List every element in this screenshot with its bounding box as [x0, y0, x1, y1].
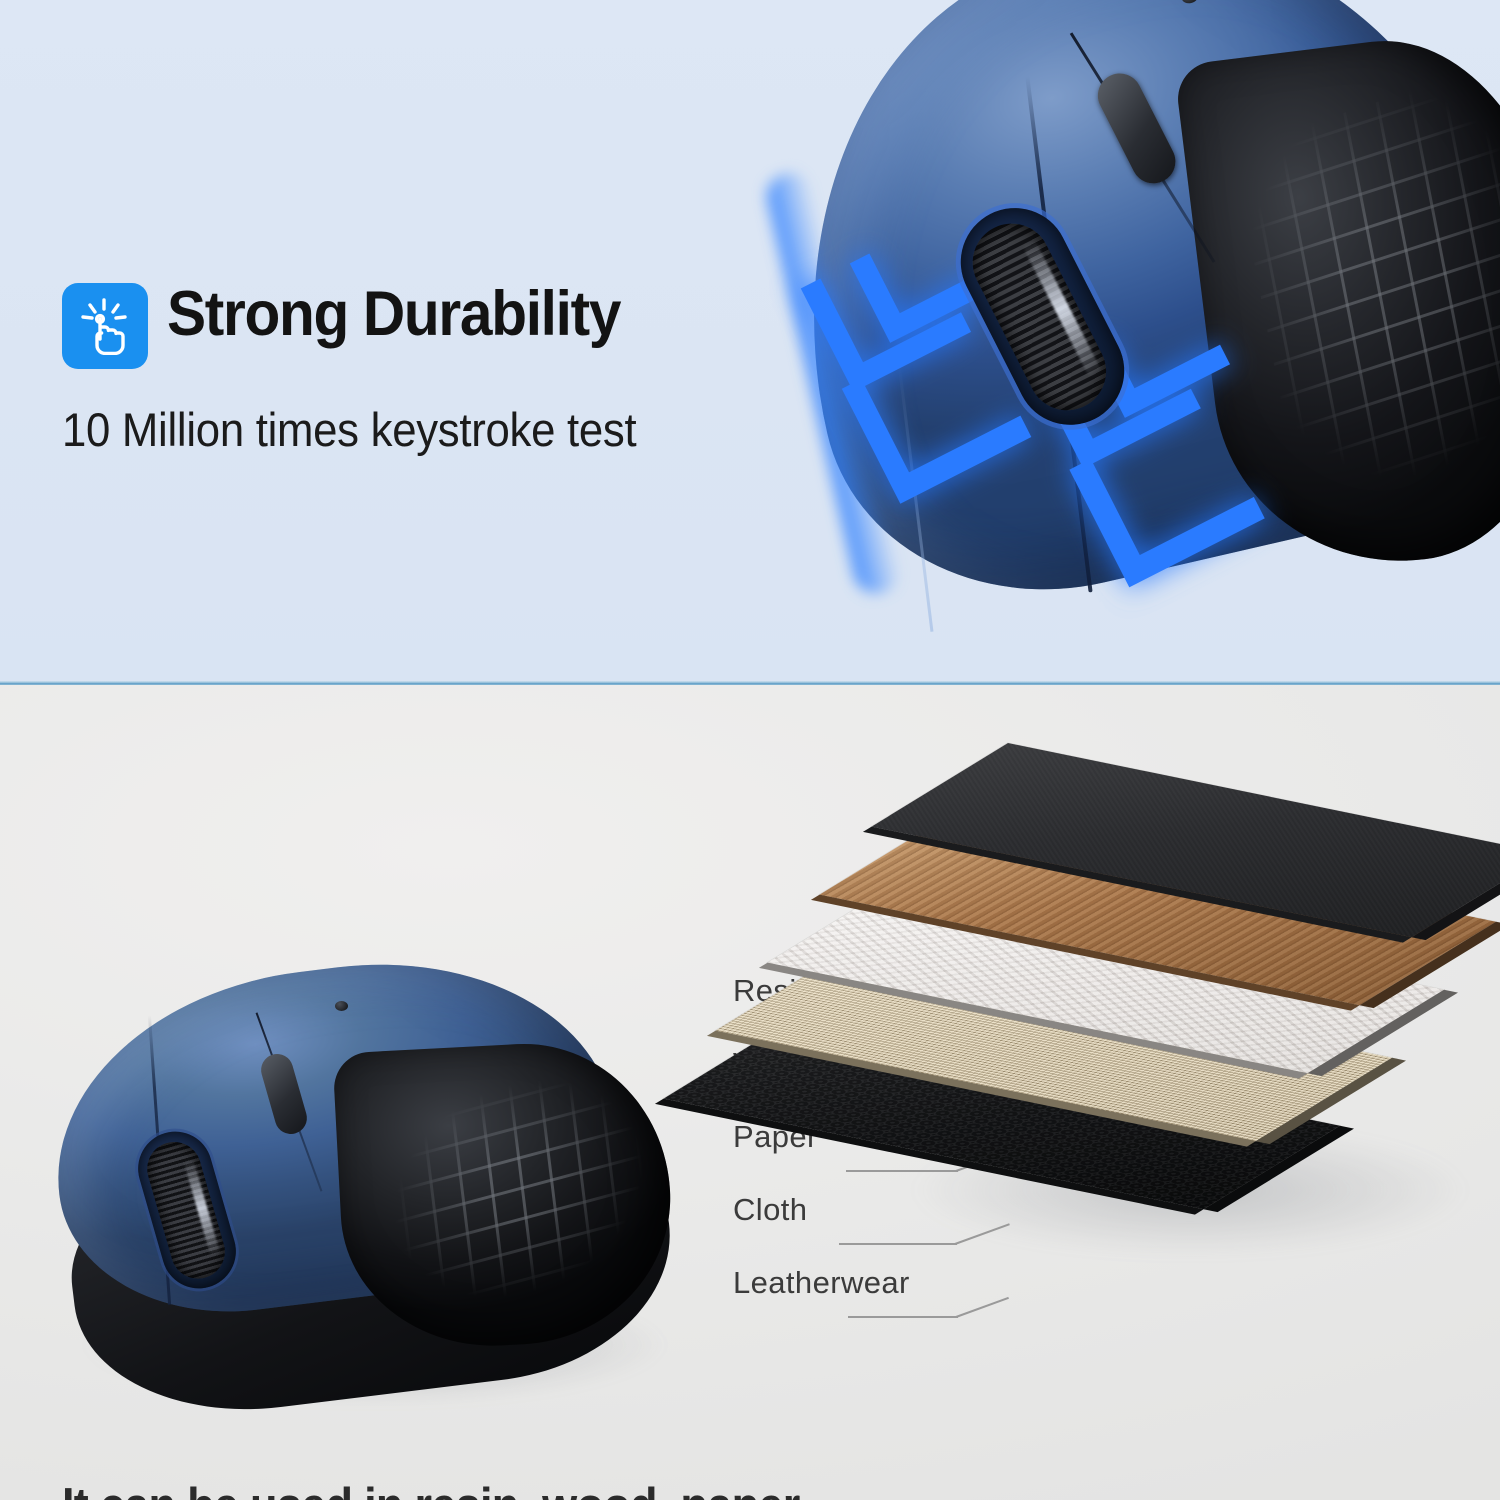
durability-section: Strong Durability 10 Million times keyst… [0, 0, 1500, 683]
materials-heading: It can be used in resin, wood, paper, cl… [62, 1475, 809, 1500]
leader-line-leatherwear [848, 1316, 958, 1318]
mouse-full-image [40, 955, 740, 1425]
mouse-closeup-image [737, 0, 1500, 683]
leader-line-paper [846, 1170, 958, 1172]
material-label-cloth: Cloth [733, 1192, 807, 1228]
material-label-leatherwear: Leatherwear [733, 1265, 910, 1301]
tap-click-hand-icon [62, 283, 148, 369]
leader-line-leatherwear-diagonal [956, 1297, 1009, 1318]
page-title: Strong Durability [167, 278, 620, 350]
product-feature-page: Strong Durability 10 Million times keyst… [0, 0, 1500, 1500]
led-indicator [335, 1001, 348, 1011]
material-stack-diagram [700, 695, 1500, 1255]
leader-line-cloth [839, 1243, 957, 1245]
materials-heading-line1: It can be used in resin, wood, paper, [62, 1475, 809, 1500]
scroll-wheel-highlight [183, 1158, 220, 1257]
page-subtitle: 10 Million times keystroke test [62, 402, 636, 457]
materials-section: It can be used in resin, wood, paper, cl… [0, 685, 1500, 1500]
